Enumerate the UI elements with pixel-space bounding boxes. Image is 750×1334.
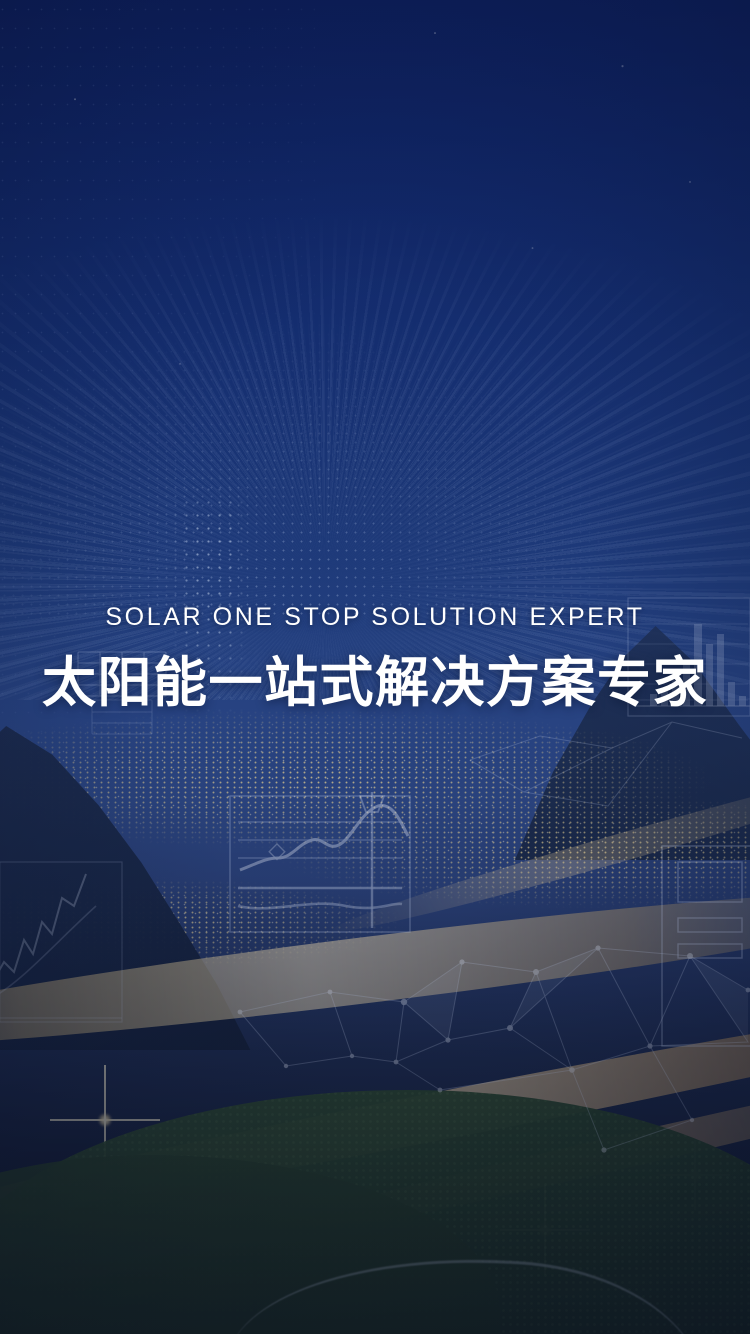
hero-banner: SOLAR ONE STOP SOLUTION EXPERT 太阳能一站式解决方… [0, 0, 750, 1334]
hero-copy: SOLAR ONE STOP SOLUTION EXPERT 太阳能一站式解决方… [0, 598, 750, 714]
hero-headline: 太阳能一站式解决方案专家 [0, 652, 750, 714]
hero-eyebrow: SOLAR ONE STOP SOLUTION EXPERT [0, 598, 750, 636]
